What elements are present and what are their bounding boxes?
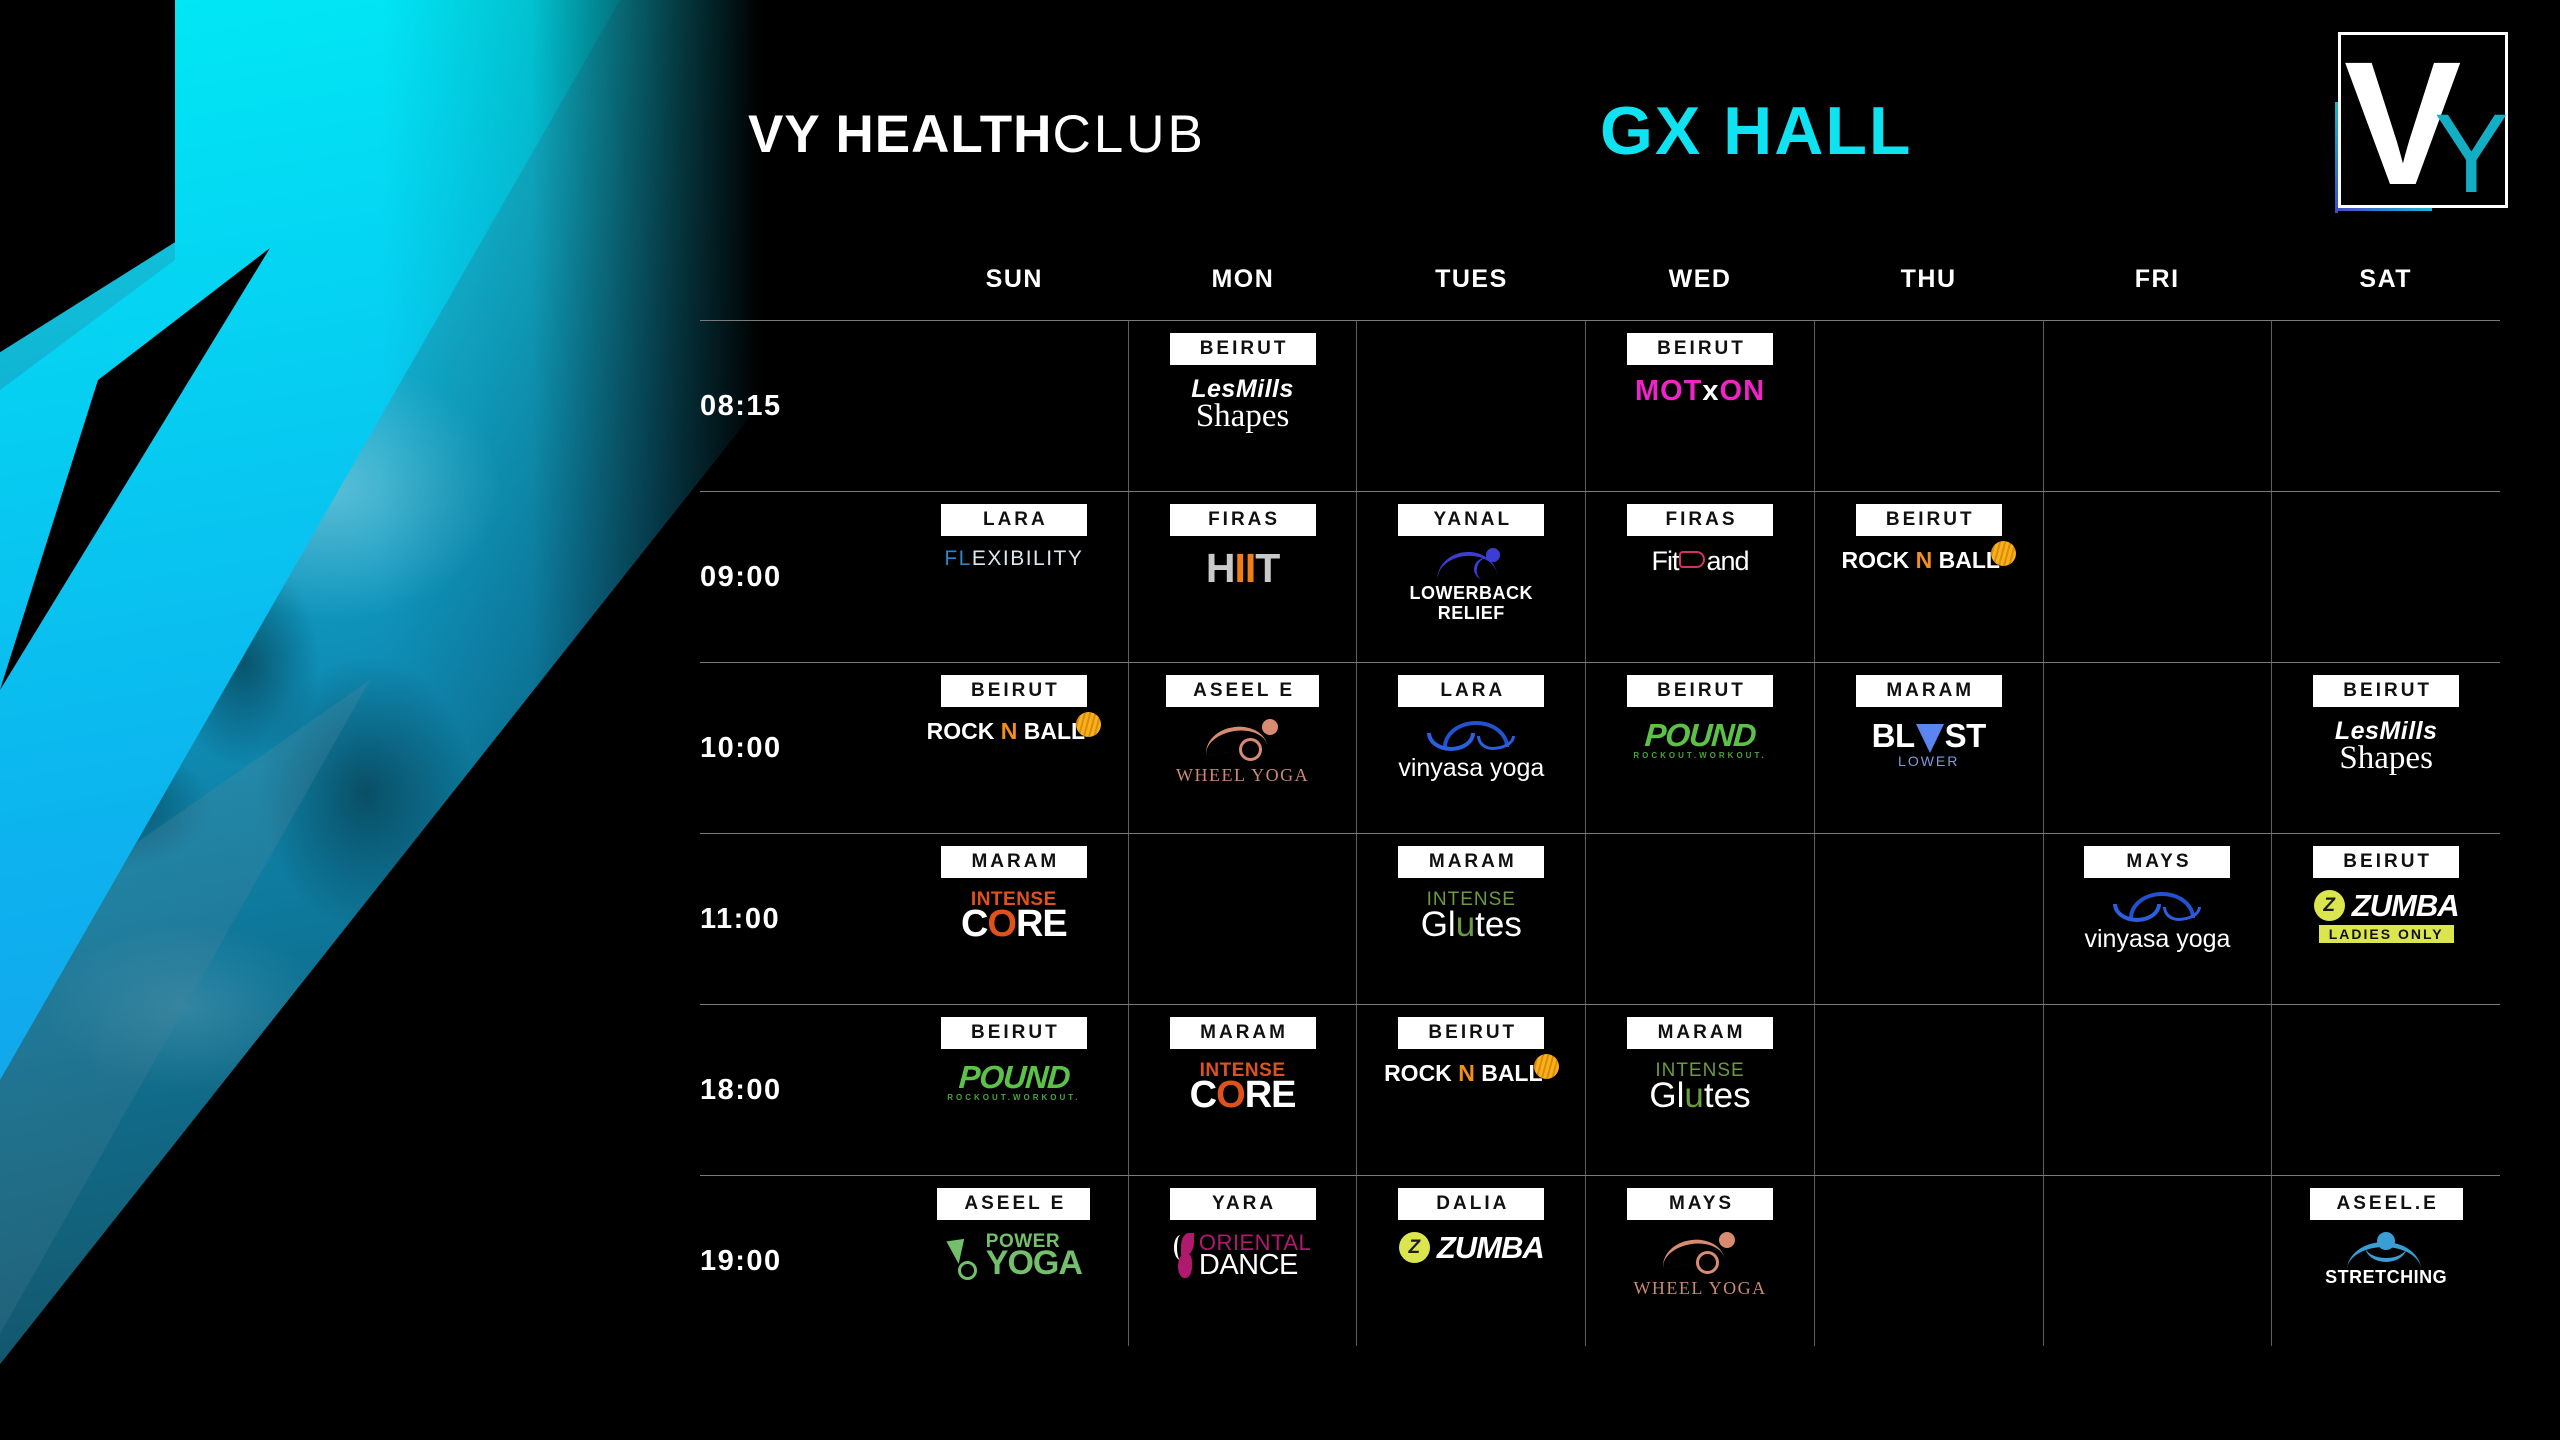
vinyasa-wordmark: vinyasa yoga	[1398, 756, 1544, 781]
hero-image-panel	[0, 0, 760, 1440]
zumba-ladies-only-badge: LADIES ONLY	[2319, 925, 2454, 943]
power-yoga-lockup: POWER YOGA	[946, 1232, 1082, 1280]
rocknball-wordmark: ROCK N BALL	[1842, 548, 2016, 573]
class-logo-intense-glutes: INTENSE Glutes	[1421, 890, 1522, 942]
day-header-tues: TUES	[1357, 265, 1586, 294]
oriental-dance-lockup: ORIENTAL DANCE	[1174, 1232, 1311, 1280]
motion-wordmark: MOTxON	[1635, 377, 1765, 406]
motion-figure-icon: x	[1702, 377, 1719, 406]
cell-sat-1000[interactable]: BEIRUT LesMills Shapes	[2271, 663, 2500, 833]
coach-badge: BEIRUT	[1627, 333, 1773, 365]
class-logo-rock-n-ball: ROCK N BALL	[1842, 548, 2016, 573]
schedule-row: 18:00 BEIRUT POUND ROCKOUT.WORKOUT. MARA…	[700, 1005, 2500, 1175]
shapes-wordmark: Shapes	[1196, 400, 1290, 433]
wheel-yoga-wordmark: WHEEL YOGA	[1176, 766, 1309, 784]
class-logo-intense-core: INTENSE CORE	[1190, 1061, 1296, 1114]
brand-title-light: CLUB	[1052, 105, 1205, 164]
vinyasa-wordmark: vinyasa yoga	[2084, 927, 2230, 952]
schedule-grid: SUN MON TUES WED THU FRI SAT 08:15 BEIRU…	[700, 238, 2500, 1346]
class-logo-power-yoga: POWER YOGA	[946, 1232, 1082, 1280]
lowerback-line2: RELIEF	[1438, 604, 1505, 624]
cell-tues-1100[interactable]: MARAM INTENSE Glutes	[1356, 834, 1585, 1004]
blast-triangle-icon	[1916, 724, 1944, 753]
rocknball-ball-icon	[1991, 541, 2016, 566]
day-header-sun: SUN	[900, 265, 1129, 294]
rocknball-ball-icon	[1534, 1054, 1559, 1079]
coach-badge: DALIA	[1398, 1188, 1544, 1220]
logo-letter-y: Y	[2434, 98, 2509, 210]
coach-badge: MAYS	[2084, 846, 2230, 878]
coach-badge: FIRAS	[1170, 504, 1316, 536]
cell-sun-1100[interactable]: MARAM INTENSE CORE	[900, 834, 1128, 1004]
class-logo-vinyasa-yoga: vinyasa yoga	[1398, 719, 1544, 781]
poster-header: VY HEALTHCLUB GX HALL V Y	[0, 0, 2560, 215]
flexibility-wordmark: FLEXIBILITY	[944, 548, 1083, 569]
cell-fri-1100[interactable]: MAYS vinyasa yoga	[2043, 834, 2272, 1004]
class-logo-flexibility: FLEXIBILITY	[944, 548, 1083, 569]
coach-badge: MARAM	[1627, 1017, 1773, 1049]
cell-thu-0900[interactable]: BEIRUT ROCK N BALL	[1814, 492, 2043, 662]
cell-sun-1900[interactable]: ASEEL E POWER YOGA	[900, 1176, 1128, 1346]
schedule-row: 11:00 MARAM INTENSE CORE MARAM INTENSE G…	[700, 834, 2500, 1004]
day-header-wed: WED	[1586, 265, 1815, 294]
row-time-label: 11:00	[700, 834, 900, 1004]
coach-badge: YANAL	[1398, 504, 1544, 536]
cell-sat-0900[interactable]	[2271, 492, 2500, 662]
logo-frame-gradient-left	[2335, 102, 2338, 213]
cell-tues-0900[interactable]: YANAL LOWERBACK RELIEF	[1356, 492, 1585, 662]
cell-fri-0815[interactable]	[2043, 321, 2272, 491]
core-wordmark: CORE	[1190, 1076, 1296, 1114]
shapes-wordmark: Shapes	[2339, 742, 2433, 775]
cell-wed-1100[interactable]	[1585, 834, 1814, 1004]
hiit-wordmark: HIIT	[1206, 548, 1279, 589]
cell-thu-1100[interactable]	[1814, 834, 2043, 1004]
cell-fri-1800[interactable]	[2043, 1005, 2272, 1175]
schedule-row: 09:00 LARA FLEXIBILITY FIRAS HIIT YANAL	[700, 492, 2500, 662]
fitband-band-icon	[1679, 551, 1705, 568]
cell-mon-0815[interactable]: BEIRUT LesMills Shapes	[1128, 321, 1357, 491]
coach-badge: MARAM	[941, 846, 1087, 878]
power-yoga-figure-icon	[946, 1238, 984, 1280]
cell-thu-1000[interactable]: MARAM BLST LOWER	[1814, 663, 2043, 833]
day-header-sat: SAT	[2271, 265, 2500, 294]
schedule-poster: VY HEALTHCLUB GX HALL V Y SUN MON TUES W…	[0, 0, 2560, 1440]
coach-badge: BEIRUT	[2313, 846, 2459, 878]
cell-sat-1100[interactable]: BEIRUT Z ZUMBA LADIES ONLY	[2271, 834, 2500, 1004]
coach-badge: FIRAS	[1627, 504, 1773, 536]
fitband-wordmark: Fitand	[1651, 548, 1748, 575]
coach-badge: BEIRUT	[1627, 675, 1773, 707]
coach-badge: BEIRUT	[1170, 333, 1316, 365]
zumba-lockup: Z ZUMBA	[2314, 890, 2459, 921]
brand-title: VY HEALTHCLUB	[748, 104, 1206, 165]
vinyasa-wave-icon	[1425, 719, 1517, 753]
cell-sun-1000[interactable]: BEIRUT ROCK N BALL	[900, 663, 1128, 833]
pound-wordmark: POUND	[1644, 719, 1757, 751]
cell-sat-1900[interactable]: ASEEL.E STRETCHING	[2271, 1176, 2500, 1346]
row-time-label: 18:00	[700, 1005, 900, 1175]
class-logo-lesmills-shapes: LesMills Shapes	[1191, 377, 1294, 433]
class-logo-motion: MOTxON	[1635, 377, 1765, 406]
cell-thu-0815[interactable]	[1814, 321, 2043, 491]
class-logo-zumba: Z ZUMBA	[1399, 1232, 1544, 1263]
vy-logo: V Y	[2338, 32, 2508, 208]
day-header-row: SUN MON TUES WED THU FRI SAT	[700, 238, 2500, 320]
cell-sat-0815[interactable]	[2271, 321, 2500, 491]
zumba-wordmark: ZUMBA	[1437, 1232, 1544, 1263]
cell-sun-0900[interactable]: LARA FLEXIBILITY	[900, 492, 1128, 662]
class-logo-stretching: STRETCHING	[2325, 1232, 2447, 1286]
coach-badge: BEIRUT	[2313, 675, 2459, 707]
cell-sun-0815[interactable]	[900, 321, 1128, 491]
coach-badge: MARAM	[1856, 675, 2002, 707]
class-logo-oriental-dance: ORIENTAL DANCE	[1174, 1232, 1311, 1280]
pound-wordmark: POUND	[957, 1061, 1070, 1093]
cell-mon-0900[interactable]: FIRAS HIIT	[1128, 492, 1357, 662]
core-wordmark: CORE	[961, 905, 1067, 943]
schedule-row: 19:00 ASEEL E POWER YOGA YARA	[700, 1176, 2500, 1346]
wheel-yoga-figure-icon	[1661, 1232, 1739, 1274]
cell-wed-1800[interactable]: MARAM INTENSE Glutes	[1585, 1005, 1814, 1175]
coach-badge: MARAM	[1170, 1017, 1316, 1049]
day-header-mon: MON	[1129, 265, 1358, 294]
cell-wed-1000[interactable]: BEIRUT POUND ROCKOUT.WORKOUT.	[1585, 663, 1814, 833]
cell-fri-1000[interactable]	[2043, 663, 2272, 833]
coach-badge: YARA	[1170, 1188, 1316, 1220]
rocknball-wordmark: ROCK N BALL	[1384, 1061, 1558, 1086]
cell-tues-1800[interactable]: BEIRUT ROCK N BALL	[1356, 1005, 1585, 1175]
cell-sun-1800[interactable]: BEIRUT POUND ROCKOUT.WORKOUT.	[900, 1005, 1128, 1175]
cell-mon-1000[interactable]: ASEEL E WHEEL YOGA	[1128, 663, 1357, 833]
cell-fri-0900[interactable]	[2043, 492, 2272, 662]
coach-badge: ASEEL.E	[2310, 1188, 2463, 1220]
glutes-wordmark: Glutes	[1421, 907, 1522, 942]
cell-sat-1800[interactable]	[2271, 1005, 2500, 1175]
coach-badge: LARA	[941, 504, 1087, 536]
day-header-thu: THU	[1814, 265, 2043, 294]
class-logo-wheel-yoga: WHEEL YOGA	[1633, 1232, 1766, 1297]
class-logo-pound: POUND ROCKOUT.WORKOUT.	[947, 1061, 1080, 1102]
pound-tagline: ROCKOUT.WORKOUT.	[947, 1094, 1080, 1102]
class-logo-rock-n-ball: ROCK N BALL	[1384, 1061, 1558, 1086]
row-time-label: 19:00	[700, 1176, 900, 1346]
blast-sublabel: LOWER	[1898, 754, 1959, 768]
cell-tues-1900[interactable]: DALIA Z ZUMBA	[1356, 1176, 1585, 1346]
cell-tues-1000[interactable]: LARA vinyasa yoga	[1356, 663, 1585, 833]
lowerback-line1: LOWERBACK	[1410, 584, 1534, 604]
class-logo-intense-core: INTENSE CORE	[961, 890, 1067, 943]
rocknball-wordmark: ROCK N BALL	[927, 719, 1101, 744]
wheel-yoga-figure-icon	[1204, 719, 1282, 761]
cell-mon-1100[interactable]	[1128, 834, 1357, 1004]
schedule-row: 08:15 BEIRUT LesMills Shapes BEIRUT MOTx…	[700, 321, 2500, 491]
zumba-wordmark: ZUMBA	[2352, 890, 2459, 921]
coach-badge: MARAM	[1398, 846, 1544, 878]
dance-wordmark: DANCE	[1199, 1251, 1311, 1280]
class-logo-lowerback-relief: LOWERBACK RELIEF	[1410, 548, 1534, 624]
cell-thu-1800[interactable]	[1814, 1005, 2043, 1175]
day-header-fri: FRI	[2043, 265, 2272, 294]
lowerback-figure-icon	[1436, 548, 1506, 582]
glutes-wordmark: Glutes	[1649, 1078, 1750, 1113]
class-logo-blast: BLST LOWER	[1872, 719, 1986, 768]
class-logo-zumba: Z ZUMBA LADIES ONLY	[2314, 890, 2459, 943]
rocknball-ball-icon	[1076, 712, 1101, 737]
vinyasa-wave-icon	[2111, 890, 2203, 924]
coach-badge: MAYS	[1627, 1188, 1773, 1220]
yoga-wordmark: YOGA	[986, 1246, 1082, 1280]
cell-mon-1800[interactable]: MARAM INTENSE CORE	[1128, 1005, 1357, 1175]
class-logo-vinyasa-yoga: vinyasa yoga	[2084, 890, 2230, 952]
zumba-dancer-icon: Z	[2314, 890, 2345, 921]
zumba-lockup: Z ZUMBA	[1399, 1232, 1544, 1263]
hall-title: GX HALL	[1600, 92, 1912, 170]
row-time-label: 09:00	[700, 492, 900, 662]
class-logo-fitband: Fitand	[1651, 548, 1748, 575]
class-logo-rock-n-ball: ROCK N BALL	[927, 719, 1101, 744]
coach-badge: BEIRUT	[941, 675, 1087, 707]
class-logo-wheel-yoga: WHEEL YOGA	[1176, 719, 1309, 784]
coach-badge: BEIRUT	[941, 1017, 1087, 1049]
coach-badge: LARA	[1398, 675, 1544, 707]
coach-badge: ASEEL E	[937, 1188, 1090, 1220]
row-time-label: 10:00	[700, 663, 900, 833]
cell-wed-0900[interactable]: FIRAS Fitand	[1585, 492, 1814, 662]
cell-mon-1900[interactable]: YARA ORIENTAL DANCE	[1128, 1176, 1357, 1346]
coach-badge: BEIRUT	[1398, 1017, 1544, 1049]
brand-title-bold: VY HEALTH	[748, 105, 1052, 164]
blast-wordmark: BLST	[1872, 719, 1986, 752]
coach-badge: BEIRUT	[1856, 504, 2002, 536]
class-logo-pound: POUND ROCKOUT.WORKOUT.	[1633, 719, 1766, 760]
cell-tues-0815[interactable]	[1356, 321, 1585, 491]
zumba-dancer-icon: Z	[1399, 1232, 1430, 1263]
coach-badge: ASEEL E	[1166, 675, 1319, 707]
pound-tagline: ROCKOUT.WORKOUT.	[1633, 752, 1766, 760]
cell-fri-1900[interactable]	[2043, 1176, 2272, 1346]
oriental-dance-flame-icon	[1174, 1233, 1196, 1279]
cell-wed-0815[interactable]: BEIRUT MOTxON	[1585, 321, 1814, 491]
wheel-yoga-wordmark: WHEEL YOGA	[1633, 1279, 1766, 1297]
schedule-row: 10:00 BEIRUT ROCK N BALL ASEEL E WHEEL Y…	[700, 663, 2500, 833]
class-logo-lesmills-shapes: LesMills Shapes	[2335, 719, 2438, 775]
row-time-label: 08:15	[700, 321, 900, 491]
stretching-figure-icon	[2347, 1232, 2425, 1272]
class-logo-hiit: HIIT	[1206, 548, 1279, 589]
class-logo-intense-glutes: INTENSE Glutes	[1649, 1061, 1750, 1113]
cell-thu-1900[interactable]	[1814, 1176, 2043, 1346]
cell-wed-1900[interactable]: MAYS WHEEL YOGA	[1585, 1176, 1814, 1346]
